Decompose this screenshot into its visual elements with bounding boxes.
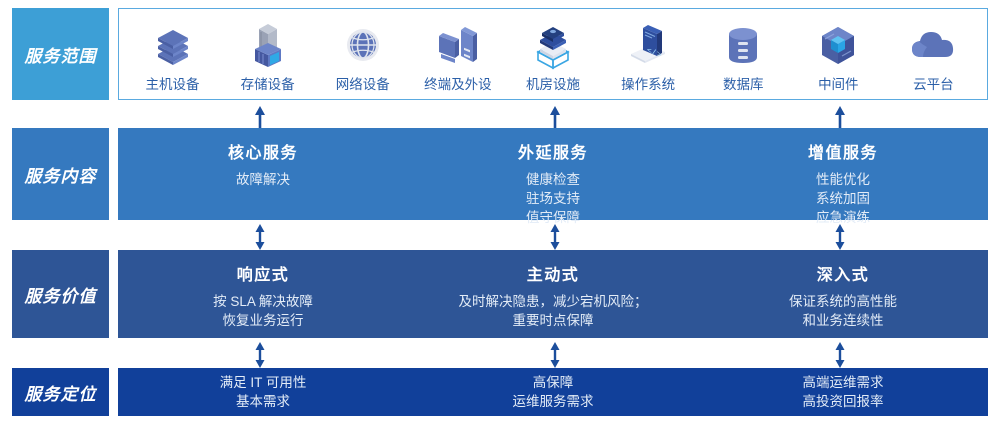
scope-item-label: 操作系统 [621, 73, 675, 93]
storage-array-icon [247, 23, 289, 69]
scope-item-terminal-peripheral[interactable]: 终端及外设 [410, 15, 505, 93]
positioning-column-highend[interactable]: 高端运维需求 高投资回报率 [698, 368, 988, 416]
scope-item-label: 终端及外设 [424, 73, 492, 93]
column-heading: 深入式 [817, 261, 870, 285]
panel-service-value: 响应式 按 SLA 解决故障 恢复业务运行 主动式 及时解决隐患，减少宕机风险；… [118, 250, 988, 338]
content-column-value-added-service[interactable]: 增值服务 性能优化 系统加固 应急演练 [698, 128, 988, 220]
row-label-text: 服务定位 [25, 380, 97, 405]
connector-arrow-bidirectional [833, 342, 847, 368]
scope-item-label: 中间件 [818, 73, 859, 93]
column-heading: 核心服务 [228, 139, 298, 163]
row-label-text: 服务内容 [25, 162, 97, 187]
value-column-responsive[interactable]: 响应式 按 SLA 解决故障 恢复业务运行 [118, 250, 408, 338]
column-line: 高端运维需求 [803, 373, 884, 392]
scope-item-label: 数据库 [723, 73, 764, 93]
scope-item-cloud-platform[interactable]: 云平台 [886, 15, 981, 93]
scope-item-database[interactable]: 数据库 [696, 15, 791, 93]
column-line: 故障解决 [236, 170, 290, 189]
middleware-cube-icon [816, 23, 860, 69]
cloud-platform-icon [909, 23, 957, 69]
row-label-text: 服务价值 [25, 282, 97, 307]
column-line: 基本需求 [236, 392, 290, 411]
column-heading: 增值服务 [808, 139, 878, 163]
scope-item-middleware[interactable]: 中间件 [791, 15, 886, 93]
connector-arrow-bidirectional [548, 342, 562, 368]
column-line: 满足 IT 可用性 [220, 373, 307, 392]
panel-service-content: 核心服务 故障解决 外延服务 健康检查 驻场支持 值守保障 增值服务 性能优化 … [118, 128, 988, 220]
server-stack-icon [152, 23, 194, 69]
column-line: 驻场支持 [526, 189, 580, 208]
column-heading: 主动式 [527, 261, 580, 285]
column-line: 保证系统的高性能 [789, 292, 897, 311]
content-column-extended-service[interactable]: 外延服务 健康检查 驻场支持 值守保障 [408, 128, 698, 220]
globe-network-icon [342, 23, 384, 69]
row-label-text: 服务范围 [25, 42, 97, 67]
scope-item-label: 主机设备 [146, 73, 200, 93]
scope-item-label: 云平台 [913, 73, 954, 93]
row-label-service-value: 服务价值 [12, 250, 109, 338]
column-line: 按 SLA 解决故障 [213, 292, 313, 311]
row-label-service-positioning: 服务定位 [12, 368, 109, 416]
desktop-peripheral-icon [435, 23, 481, 69]
connector-arrow-bidirectional [253, 224, 267, 250]
value-column-proactive[interactable]: 主动式 及时解决隐患，减少宕机风险； 重要时点保障 [408, 250, 698, 338]
laptop-code-icon: </> [625, 23, 671, 69]
connector-arrow-up [253, 104, 267, 128]
column-line: 及时解决隐患，减少宕机风险； [459, 292, 648, 311]
column-line: 高保障 [533, 373, 574, 392]
connector-arrow-bidirectional [253, 342, 267, 368]
column-line: 和业务连续性 [803, 311, 884, 330]
column-line: 高投资回报率 [803, 392, 884, 411]
scope-item-storage-equipment[interactable]: 存储设备 [220, 15, 315, 93]
connector-arrow-bidirectional [833, 224, 847, 250]
datacenter-facility-icon [530, 23, 576, 69]
column-heading: 外延服务 [518, 139, 588, 163]
panel-service-scope: 主机设备 [118, 8, 988, 100]
positioning-column-basic[interactable]: 满足 IT 可用性 基本需求 [118, 368, 408, 416]
positioning-column-assurance[interactable]: 高保障 运维服务需求 [408, 368, 698, 416]
scope-item-label: 网络设备 [336, 73, 390, 93]
column-line: 系统加固 [816, 189, 870, 208]
scope-item-host-equipment[interactable]: 主机设备 [125, 15, 220, 93]
column-line: 运维服务需求 [513, 392, 594, 411]
connector-arrow-bidirectional [548, 224, 562, 250]
row-label-service-content: 服务内容 [12, 128, 109, 220]
column-line: 恢复业务运行 [223, 311, 304, 330]
content-column-core-service[interactable]: 核心服务 故障解决 [118, 128, 408, 220]
scope-item-network-equipment[interactable]: 网络设备 [315, 15, 410, 93]
connector-arrow-up [548, 104, 562, 128]
column-line: 健康检查 [526, 170, 580, 189]
database-cylinder-icon [722, 23, 764, 69]
column-line: 性能优化 [816, 170, 870, 189]
value-column-indepth[interactable]: 深入式 保证系统的高性能 和业务连续性 [698, 250, 988, 338]
row-label-service-scope: 服务范围 [12, 8, 109, 100]
panel-service-positioning: 满足 IT 可用性 基本需求 高保障 运维服务需求 高端运维需求 高投资回报率 [118, 368, 988, 416]
column-line: 重要时点保障 [513, 311, 594, 330]
scope-item-label: 机房设施 [526, 73, 580, 93]
connector-arrow-up [833, 104, 847, 128]
service-framework-diagram: 服务范围 [0, 0, 1000, 424]
scope-item-operating-system[interactable]: </> 操作系统 [601, 15, 696, 93]
scope-item-label: 存储设备 [241, 73, 295, 93]
scope-item-datacenter-facility[interactable]: 机房设施 [505, 15, 600, 93]
column-heading: 响应式 [237, 261, 290, 285]
